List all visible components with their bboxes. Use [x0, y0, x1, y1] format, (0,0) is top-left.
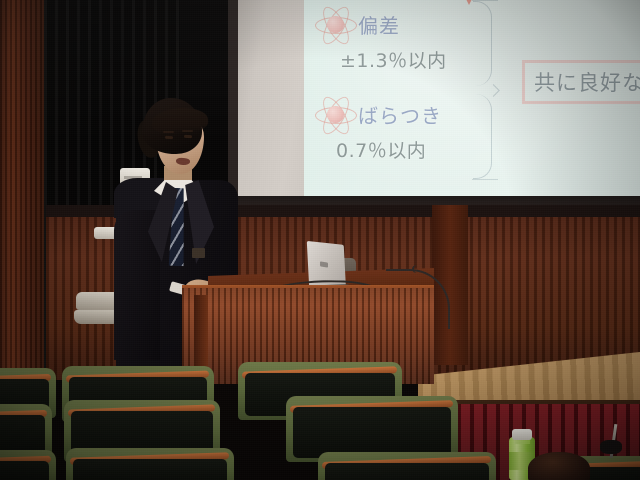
slide-row-1: 偏差	[312, 4, 400, 44]
name-badge	[192, 248, 205, 258]
atom-icon	[312, 94, 358, 134]
bottle-cap	[512, 429, 532, 440]
triangle-marker-icon	[461, 0, 477, 5]
atom-icon	[312, 4, 358, 44]
wood-panel-wall-left	[0, 0, 46, 372]
curly-brace-icon	[472, 0, 498, 180]
slide-keyword-2: ばらつき	[358, 100, 442, 129]
slide-callout-text: 共に良好な	[534, 67, 640, 97]
eyebrow-left	[163, 131, 174, 133]
slide-callout-box: 共に良好な	[522, 60, 640, 104]
eyebrow-right	[182, 130, 193, 132]
slide-keyword-1: 偏差	[358, 10, 400, 39]
eye-right	[184, 135, 192, 139]
seat	[318, 452, 496, 480]
slide-value-1: ±1.3％以内	[340, 46, 447, 73]
laptop-logo	[320, 261, 328, 267]
eye-left	[165, 136, 173, 140]
audience-head	[528, 452, 590, 480]
seat	[0, 450, 56, 480]
slide-row-2: ばらつき	[312, 94, 442, 134]
projection-screen-blank-area	[238, 0, 306, 198]
cable-loop	[412, 265, 422, 273]
mouth	[176, 158, 190, 166]
projected-slide: 偏差 ±1.3％以内 ばらつき 0.7％以内 共に良好な	[304, 0, 640, 196]
lecture-hall-photo: 偏差 ±1.3％以内 ばらつき 0.7％以内 共に良好な	[0, 0, 640, 480]
seat	[66, 448, 234, 480]
slide-value-2: 0.7％以内	[336, 136, 426, 163]
audio-equipment	[600, 440, 622, 454]
